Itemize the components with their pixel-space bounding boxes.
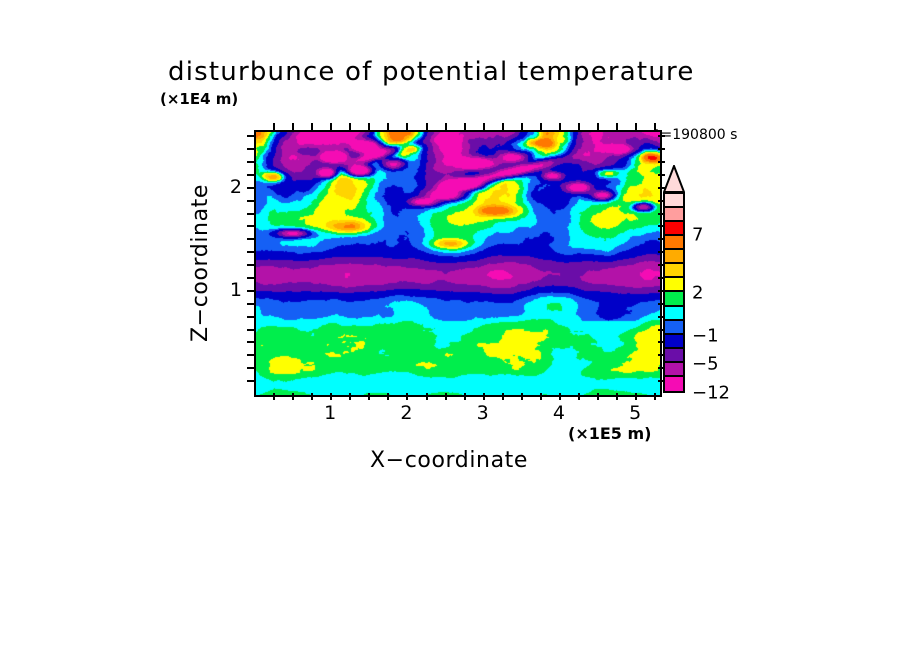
contour-field-canvas: [256, 132, 660, 395]
x-axis-tick-top: [559, 123, 561, 130]
contour-plot-page: disturbunce of potential temperature (×1…: [0, 0, 904, 654]
x-axis-tick: [292, 393, 294, 400]
colorbar-band: [665, 307, 683, 321]
y-axis-tick: [247, 174, 254, 176]
x-axis-tick-top: [578, 123, 580, 130]
y-axis-tick: [247, 367, 254, 369]
y-axis-tick: [247, 264, 254, 266]
x-axis-tick: [311, 393, 313, 400]
y-axis-tick-right: [658, 135, 665, 137]
x-axis-tick-top: [273, 123, 275, 130]
y-axis-tick: [247, 251, 254, 253]
y-axis-tick-label: 1: [216, 279, 242, 301]
colorbar-band: [665, 335, 683, 349]
y-axis-tick: [247, 238, 254, 240]
y-axis-tick: [247, 277, 254, 279]
x-axis-tick: [406, 393, 408, 400]
x-axis-tick: [426, 393, 428, 400]
x-axis-tick-label: 2: [400, 402, 412, 424]
y-axis-tick: [247, 200, 254, 202]
y-axis-tick: [247, 187, 254, 189]
colorbar-band: [665, 292, 683, 306]
x-axis-tick-top: [597, 123, 599, 130]
x-axis-tick-top: [292, 123, 294, 130]
colorbar-tick-label: 7: [692, 225, 703, 246]
x-axis-tick-top: [368, 123, 370, 130]
y-axis-tick: [247, 354, 254, 356]
colorbar-band: [665, 349, 683, 363]
colorbar-tick-label: −1: [692, 325, 719, 346]
y-axis-tick-right: [658, 148, 665, 150]
timestamp-label: t=190800 s: [655, 127, 737, 143]
colorbar-arrow-icon: [663, 165, 685, 193]
colorbar-tick-label: −12: [692, 383, 730, 404]
x-axis-title: X−coordinate: [370, 448, 528, 473]
colorbar-tick-label: −5: [692, 354, 719, 375]
x-axis-tick: [635, 393, 637, 400]
colorbar-band: [665, 208, 683, 222]
x-axis-tick-top: [521, 123, 523, 130]
x-axis-tick-top: [616, 123, 618, 130]
y-axis-tick: [247, 290, 254, 292]
x-axis-tick: [616, 393, 618, 400]
y-axis-tick: [247, 135, 254, 137]
x-axis-tick-top: [311, 123, 313, 130]
page-title: disturbunce of potential temperature: [168, 57, 768, 87]
x-axis-tick: [330, 393, 332, 400]
y-axis-tick: [247, 316, 254, 318]
y-axis-tick: [247, 161, 254, 163]
x-axis-tick-label: 3: [477, 402, 489, 424]
x-axis-tick: [483, 393, 485, 400]
colorbar: [663, 165, 685, 393]
y-axis-tick: [247, 341, 254, 343]
x-axis-tick-label: 4: [553, 402, 565, 424]
x-axis-tick-top: [387, 123, 389, 130]
x-axis-tick: [368, 393, 370, 400]
x-axis-tick: [578, 393, 580, 400]
x-axis-tick: [349, 393, 351, 400]
y-axis-units-label: (×1E4 m): [160, 90, 238, 108]
y-axis-tick-right: [658, 161, 665, 163]
colorbar-band: [665, 377, 683, 391]
x-axis-tick-top: [635, 123, 637, 130]
x-axis-tick: [387, 393, 389, 400]
x-axis-tick-top: [426, 123, 428, 130]
x-axis-tick-top: [445, 123, 447, 130]
x-axis-tick-top: [654, 123, 656, 130]
x-axis-tick-top: [406, 123, 408, 130]
colorbar-bands: [663, 192, 685, 393]
y-axis-tick: [247, 148, 254, 150]
y-axis-tick: [247, 329, 254, 331]
y-axis-tick: [247, 303, 254, 305]
colorbar-band: [665, 222, 683, 236]
x-axis-tick: [502, 393, 504, 400]
x-axis-tick-top: [464, 123, 466, 130]
colorbar-tick-label: 2: [692, 282, 703, 303]
x-axis-tick-top: [330, 123, 332, 130]
x-axis-tick-top: [483, 123, 485, 130]
y-axis-title: Z−coordinate: [188, 168, 214, 358]
x-axis-tick: [273, 393, 275, 400]
colorbar-band: [665, 278, 683, 292]
x-axis-tick: [445, 393, 447, 400]
x-axis-tick: [540, 393, 542, 400]
x-axis-tick: [559, 393, 561, 400]
y-axis-tick-label: 2: [216, 176, 242, 198]
contour-plot-area: [254, 130, 662, 397]
colorbar-band: [665, 264, 683, 278]
colorbar-band: [665, 194, 683, 208]
colorbar-band: [665, 321, 683, 335]
x-axis-units-label: (×1E5 m): [568, 424, 651, 443]
y-axis-tick: [247, 225, 254, 227]
x-axis-tick-label: 1: [324, 402, 336, 424]
x-axis-tick-top: [349, 123, 351, 130]
x-axis-tick-top: [540, 123, 542, 130]
x-axis-tick-top: [502, 123, 504, 130]
colorbar-band: [665, 250, 683, 264]
x-axis-tick: [521, 393, 523, 400]
y-axis-tick: [247, 213, 254, 215]
x-axis-tick: [464, 393, 466, 400]
colorbar-band: [665, 363, 683, 377]
x-axis-tick: [597, 393, 599, 400]
x-axis-tick-label: 5: [629, 402, 641, 424]
x-axis-tick: [654, 393, 656, 400]
y-axis-tick: [247, 380, 254, 382]
colorbar-band: [665, 236, 683, 250]
